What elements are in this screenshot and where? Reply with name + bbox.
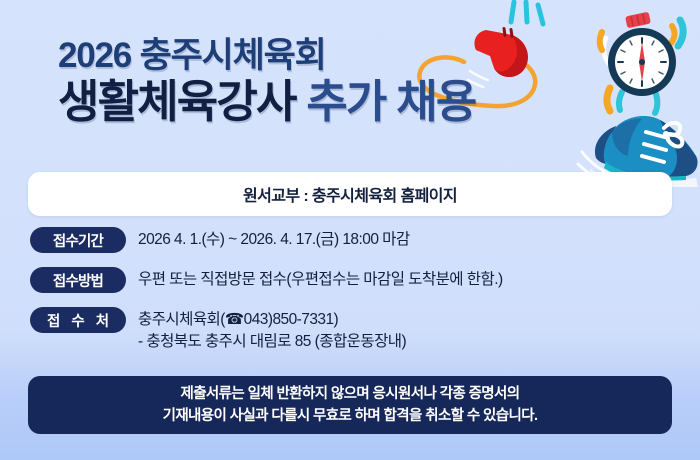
headline-job-title: 생활체육강사 [58,76,296,127]
poster-headline: 2026 충주시체육회 생활체육강사 추가 채용 [0,36,700,128]
info-value-period: 2026 4. 1.(수) ~ 2026. 4. 17.(금) 18:00 마감 [138,226,410,251]
headline-line-2: 생활체육강사 추가 채용 [0,75,700,128]
info-badge-period: 접수기간 [30,227,126,253]
info-value-location: 충주시체육회(☎043)850-7331) - 충청북도 충주시 대림로 85 … [138,306,406,353]
headline-line-1: 2026 충주시체육회 [0,36,700,75]
info-value-line: 2026 4. 1.(수) ~ 2026. 4. 17.(금) 18:00 마감 [138,229,410,251]
info-value-line: - 충청북도 충주시 대림로 85 (종합운동장내) [138,331,406,353]
footer-notice-line-1: 제출서류는 일체 반환하지 않으며 응시원서나 각종 증명서의 [180,383,519,405]
application-distribution-text: 원서교부 : 충주시체육회 홈페이지 [243,182,457,206]
recruitment-poster: 2026 충주시체육회 생활체육강사 추가 채용 원서교부 : 충주시체육회 홈… [0,0,700,460]
info-row-period: 접수기간 2026 4. 1.(수) ~ 2026. 4. 17.(금) 18:… [30,226,680,253]
info-value-method: 우편 또는 직접방문 접수(우편접수는 마감일 도착분에 한함.) [138,266,503,291]
info-row-method: 접수방법 우편 또는 직접방문 접수(우편접수는 마감일 도착분에 한함.) [30,266,680,293]
info-row-location: 접 수 처 충주시체육회(☎043)850-7331) - 충청북도 충주시 대… [30,306,680,353]
info-value-line: 우편 또는 직접방문 접수(우편접수는 마감일 도착분에 한함.) [138,269,503,291]
footer-notice: 제출서류는 일체 반환하지 않으며 응시원서나 각종 증명서의 기재내용이 사실… [28,376,672,434]
info-badge-method: 접수방법 [30,267,126,293]
application-distribution-card: 원서교부 : 충주시체육회 홈페이지 [28,172,672,216]
footer-notice-line-2: 기재내용이 사실과 다를시 무효로 하며 합격을 취소할 수 있습니다. [163,405,538,427]
info-list: 접수기간 2026 4. 1.(수) ~ 2026. 4. 17.(금) 18:… [30,226,680,366]
info-badge-location: 접 수 처 [30,307,126,333]
headline-action-term: 추가 채용 [306,76,475,127]
info-value-line: 충주시체육회(☎043)850-7331) [138,309,406,331]
